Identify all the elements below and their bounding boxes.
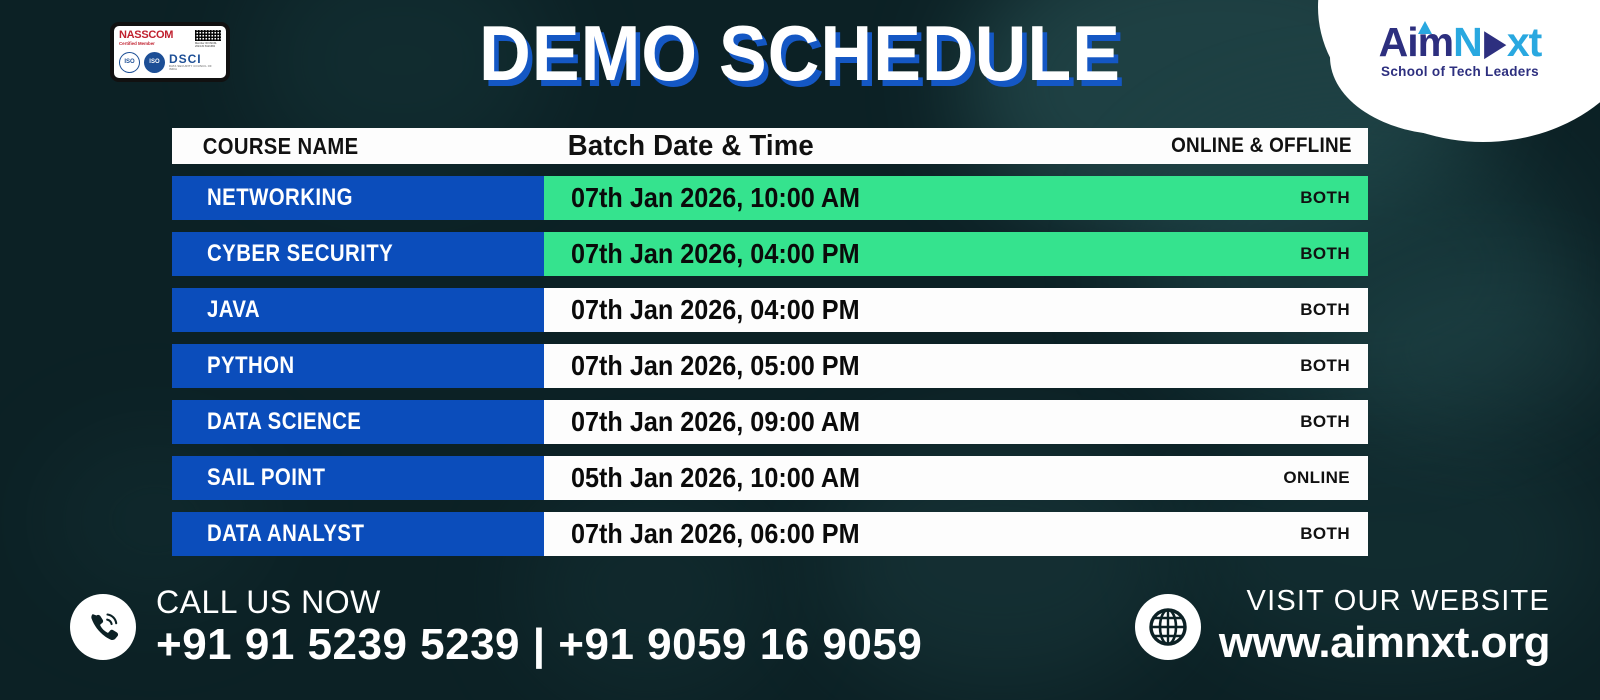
cell-mode: BOTH	[1300, 300, 1350, 320]
phone-numbers[interactable]: +91 91 5239 5239 | +91 9059 16 9059	[156, 620, 922, 669]
iso-seal-two-icon: ISO	[144, 52, 165, 73]
cell-batch-datetime: 07th Jan 2026, 09:00 AM	[571, 406, 860, 438]
cell-course-name: CYBER SECURITY	[172, 232, 544, 276]
cell-mode: BOTH	[1300, 188, 1350, 208]
dsci-label: DSCI	[169, 53, 221, 65]
iso-seal-two-label: ISO	[149, 59, 159, 65]
table-row[interactable]: PYTHON07th Jan 2026, 05:00 PMBOTH	[172, 344, 1368, 388]
cell-schedule-group: 05th Jan 2026, 10:00 AMONLINE	[544, 456, 1368, 500]
nasscom-logo: NASSCOM Certified Member	[119, 30, 173, 46]
cell-course-name: DATA SCIENCE	[172, 400, 544, 444]
qr-code-icon: Member ID NSCM-2024-IN 8121682	[195, 30, 221, 49]
table-header-row: COURSE NAME Batch Date & Time ONLINE & O…	[172, 128, 1368, 164]
visit-website-label: VISIT OUR WEBSITE	[1219, 586, 1550, 618]
cell-batch-datetime: 07th Jan 2026, 06:00 PM	[571, 518, 860, 550]
brand-aim-text: Aim	[1379, 19, 1453, 65]
globe-icon	[1135, 594, 1201, 660]
cell-schedule-group: 07th Jan 2026, 05:00 PMBOTH	[544, 344, 1368, 388]
accreditation-badge: NASSCOM Certified Member Member ID NSCM-…	[110, 22, 230, 82]
cell-course-name: NETWORKING	[172, 176, 544, 220]
brand-tagline: School of Tech Leaders	[1360, 64, 1560, 79]
website-block[interactable]: VISIT OUR WEBSITE www.aimnxt.org	[1135, 586, 1550, 667]
cell-mode: ONLINE	[1283, 468, 1350, 488]
cell-schedule-group: 07th Jan 2026, 04:00 PMBOTH	[544, 288, 1368, 332]
dsci-logo: DSCI DATA SECURITY COUNCIL OF INDIA	[169, 53, 221, 71]
cell-schedule-group: 07th Jan 2026, 06:00 PMBOTH	[544, 512, 1368, 556]
table-row[interactable]: JAVA07th Jan 2026, 04:00 PMBOTH	[172, 288, 1368, 332]
brand-xt-text: xt	[1507, 19, 1541, 65]
cell-mode: BOTH	[1300, 412, 1350, 432]
table-row[interactable]: DATA SCIENCE07th Jan 2026, 09:00 AMBOTH	[172, 400, 1368, 444]
aimnxt-logo[interactable]: AimN▶xt School of Tech Leaders	[1360, 22, 1560, 79]
cell-mode: BOTH	[1300, 524, 1350, 544]
iso-seal-one-label: ISO	[124, 59, 134, 65]
cell-batch-datetime: 05th Jan 2026, 10:00 AM	[571, 462, 860, 494]
brand-wordmark: AimN▶xt	[1360, 22, 1560, 63]
table-row[interactable]: CYBER SECURITY07th Jan 2026, 04:00 PMBOT…	[172, 232, 1368, 276]
column-header-mode: ONLINE & OFFLINE	[1143, 134, 1368, 158]
iso-seal-one-icon: ISO	[119, 52, 140, 73]
column-header-batch-datetime: Batch Date & Time	[544, 130, 1089, 163]
call-us-block[interactable]: CALL US NOW +91 91 5239 5239 | +91 9059 …	[70, 586, 922, 669]
footer: CALL US NOW +91 91 5239 5239 | +91 9059 …	[0, 570, 1600, 700]
cell-batch-datetime: 07th Jan 2026, 10:00 AM	[571, 182, 860, 214]
cell-batch-datetime: 07th Jan 2026, 05:00 PM	[571, 350, 860, 382]
qr-caption: Member ID NSCM-2024-IN 8121682	[195, 42, 221, 49]
cell-mode: BOTH	[1300, 356, 1350, 376]
website-url[interactable]: www.aimnxt.org	[1219, 618, 1550, 667]
nasscom-name: NASSCOM	[119, 30, 173, 41]
phone-icon	[70, 594, 136, 660]
brand-n-text: N	[1453, 19, 1482, 65]
cell-course-name: JAVA	[172, 288, 544, 332]
cell-course-name: SAIL POINT	[172, 456, 544, 500]
cell-schedule-group: 07th Jan 2026, 04:00 PMBOTH	[544, 232, 1368, 276]
play-arrow-icon: ▶	[1484, 26, 1504, 60]
brand-dot-icon	[1418, 21, 1432, 34]
table-row[interactable]: NETWORKING07th Jan 2026, 10:00 AMBOTH	[172, 176, 1368, 220]
table-row[interactable]: SAIL POINT05th Jan 2026, 10:00 AMONLINE	[172, 456, 1368, 500]
cell-mode: BOTH	[1300, 244, 1350, 264]
column-header-course-name: COURSE NAME	[172, 133, 499, 160]
cell-schedule-group: 07th Jan 2026, 09:00 AMBOTH	[544, 400, 1368, 444]
cell-course-name: DATA ANALYST	[172, 512, 544, 556]
demo-schedule-table: COURSE NAME Batch Date & Time ONLINE & O…	[172, 128, 1368, 568]
cell-batch-datetime: 07th Jan 2026, 04:00 PM	[571, 238, 860, 270]
table-body: NETWORKING07th Jan 2026, 10:00 AMBOTHCYB…	[172, 176, 1368, 556]
dsci-sublabel: DATA SECURITY COUNCIL OF INDIA	[169, 65, 221, 71]
table-row[interactable]: DATA ANALYST07th Jan 2026, 06:00 PMBOTH	[172, 512, 1368, 556]
cell-batch-datetime: 07th Jan 2026, 04:00 PM	[571, 294, 860, 326]
nasscom-subtitle: Certified Member	[119, 42, 173, 46]
cell-schedule-group: 07th Jan 2026, 10:00 AMBOTH	[544, 176, 1368, 220]
call-us-label: CALL US NOW	[156, 586, 922, 620]
page-title: DEMO SCHEDULE	[64, 16, 1536, 90]
cell-course-name: PYTHON	[172, 344, 544, 388]
